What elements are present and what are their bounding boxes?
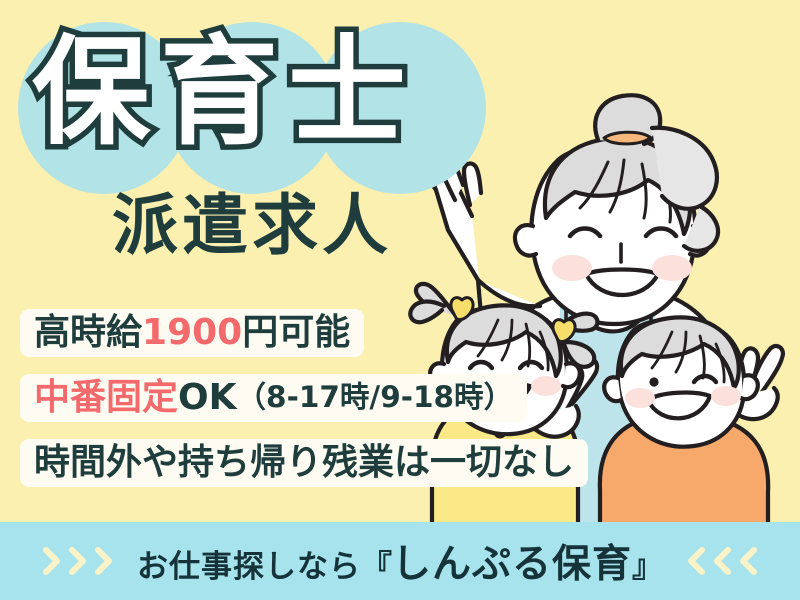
banner-open-bracket: 『: [361, 541, 392, 586]
poster-root: 保育士 派遣求人 高時給 1900 円可能 中番固定 OK （8-17時/9-1…: [0, 0, 800, 600]
feature-segment: OK: [178, 380, 237, 416]
banner-close-bracket: 』: [632, 541, 663, 586]
feature-segment: 円可能: [242, 315, 350, 351]
feature-pill-hourly-wage: 高時給 1900 円可能: [20, 309, 364, 357]
bottom-banner: お仕事探しなら 『 しんぷる保育 』: [0, 522, 800, 600]
feature-segment: 高時給: [34, 315, 142, 351]
feature-pill-fixed-shift: 中番固定 OK （8-17時/9-18時）: [20, 374, 527, 422]
banner-brand-name: しんぷる保育: [392, 533, 632, 589]
banner-lead-text: お仕事探しなら: [137, 541, 361, 586]
chevrons-right: [685, 546, 759, 576]
chevron-right-icon: [93, 546, 115, 576]
banner-text: お仕事探しなら 『 しんぷる保育 』: [137, 533, 663, 589]
chevron-left-icon: [685, 546, 707, 576]
main-title: 保育士: [32, 33, 482, 151]
sub-title: 派遣求人: [112, 193, 392, 259]
chevron-right-icon: [67, 546, 89, 576]
chevrons-left: [41, 546, 115, 576]
feature-segment-hours: （8-17時/9-18時）: [237, 383, 514, 413]
feature-pill-no-overtime: 時間外や持ち帰り残業は一切なし: [20, 439, 588, 487]
chevron-left-icon: [737, 546, 759, 576]
chevron-left-icon: [711, 546, 733, 576]
chevron-right-icon: [41, 546, 63, 576]
feature-segment-accent: 1900: [142, 315, 242, 351]
feature-segment-accent: 中番固定: [34, 380, 178, 416]
feature-segment: 時間外や持ち帰り残業は一切なし: [34, 445, 574, 481]
